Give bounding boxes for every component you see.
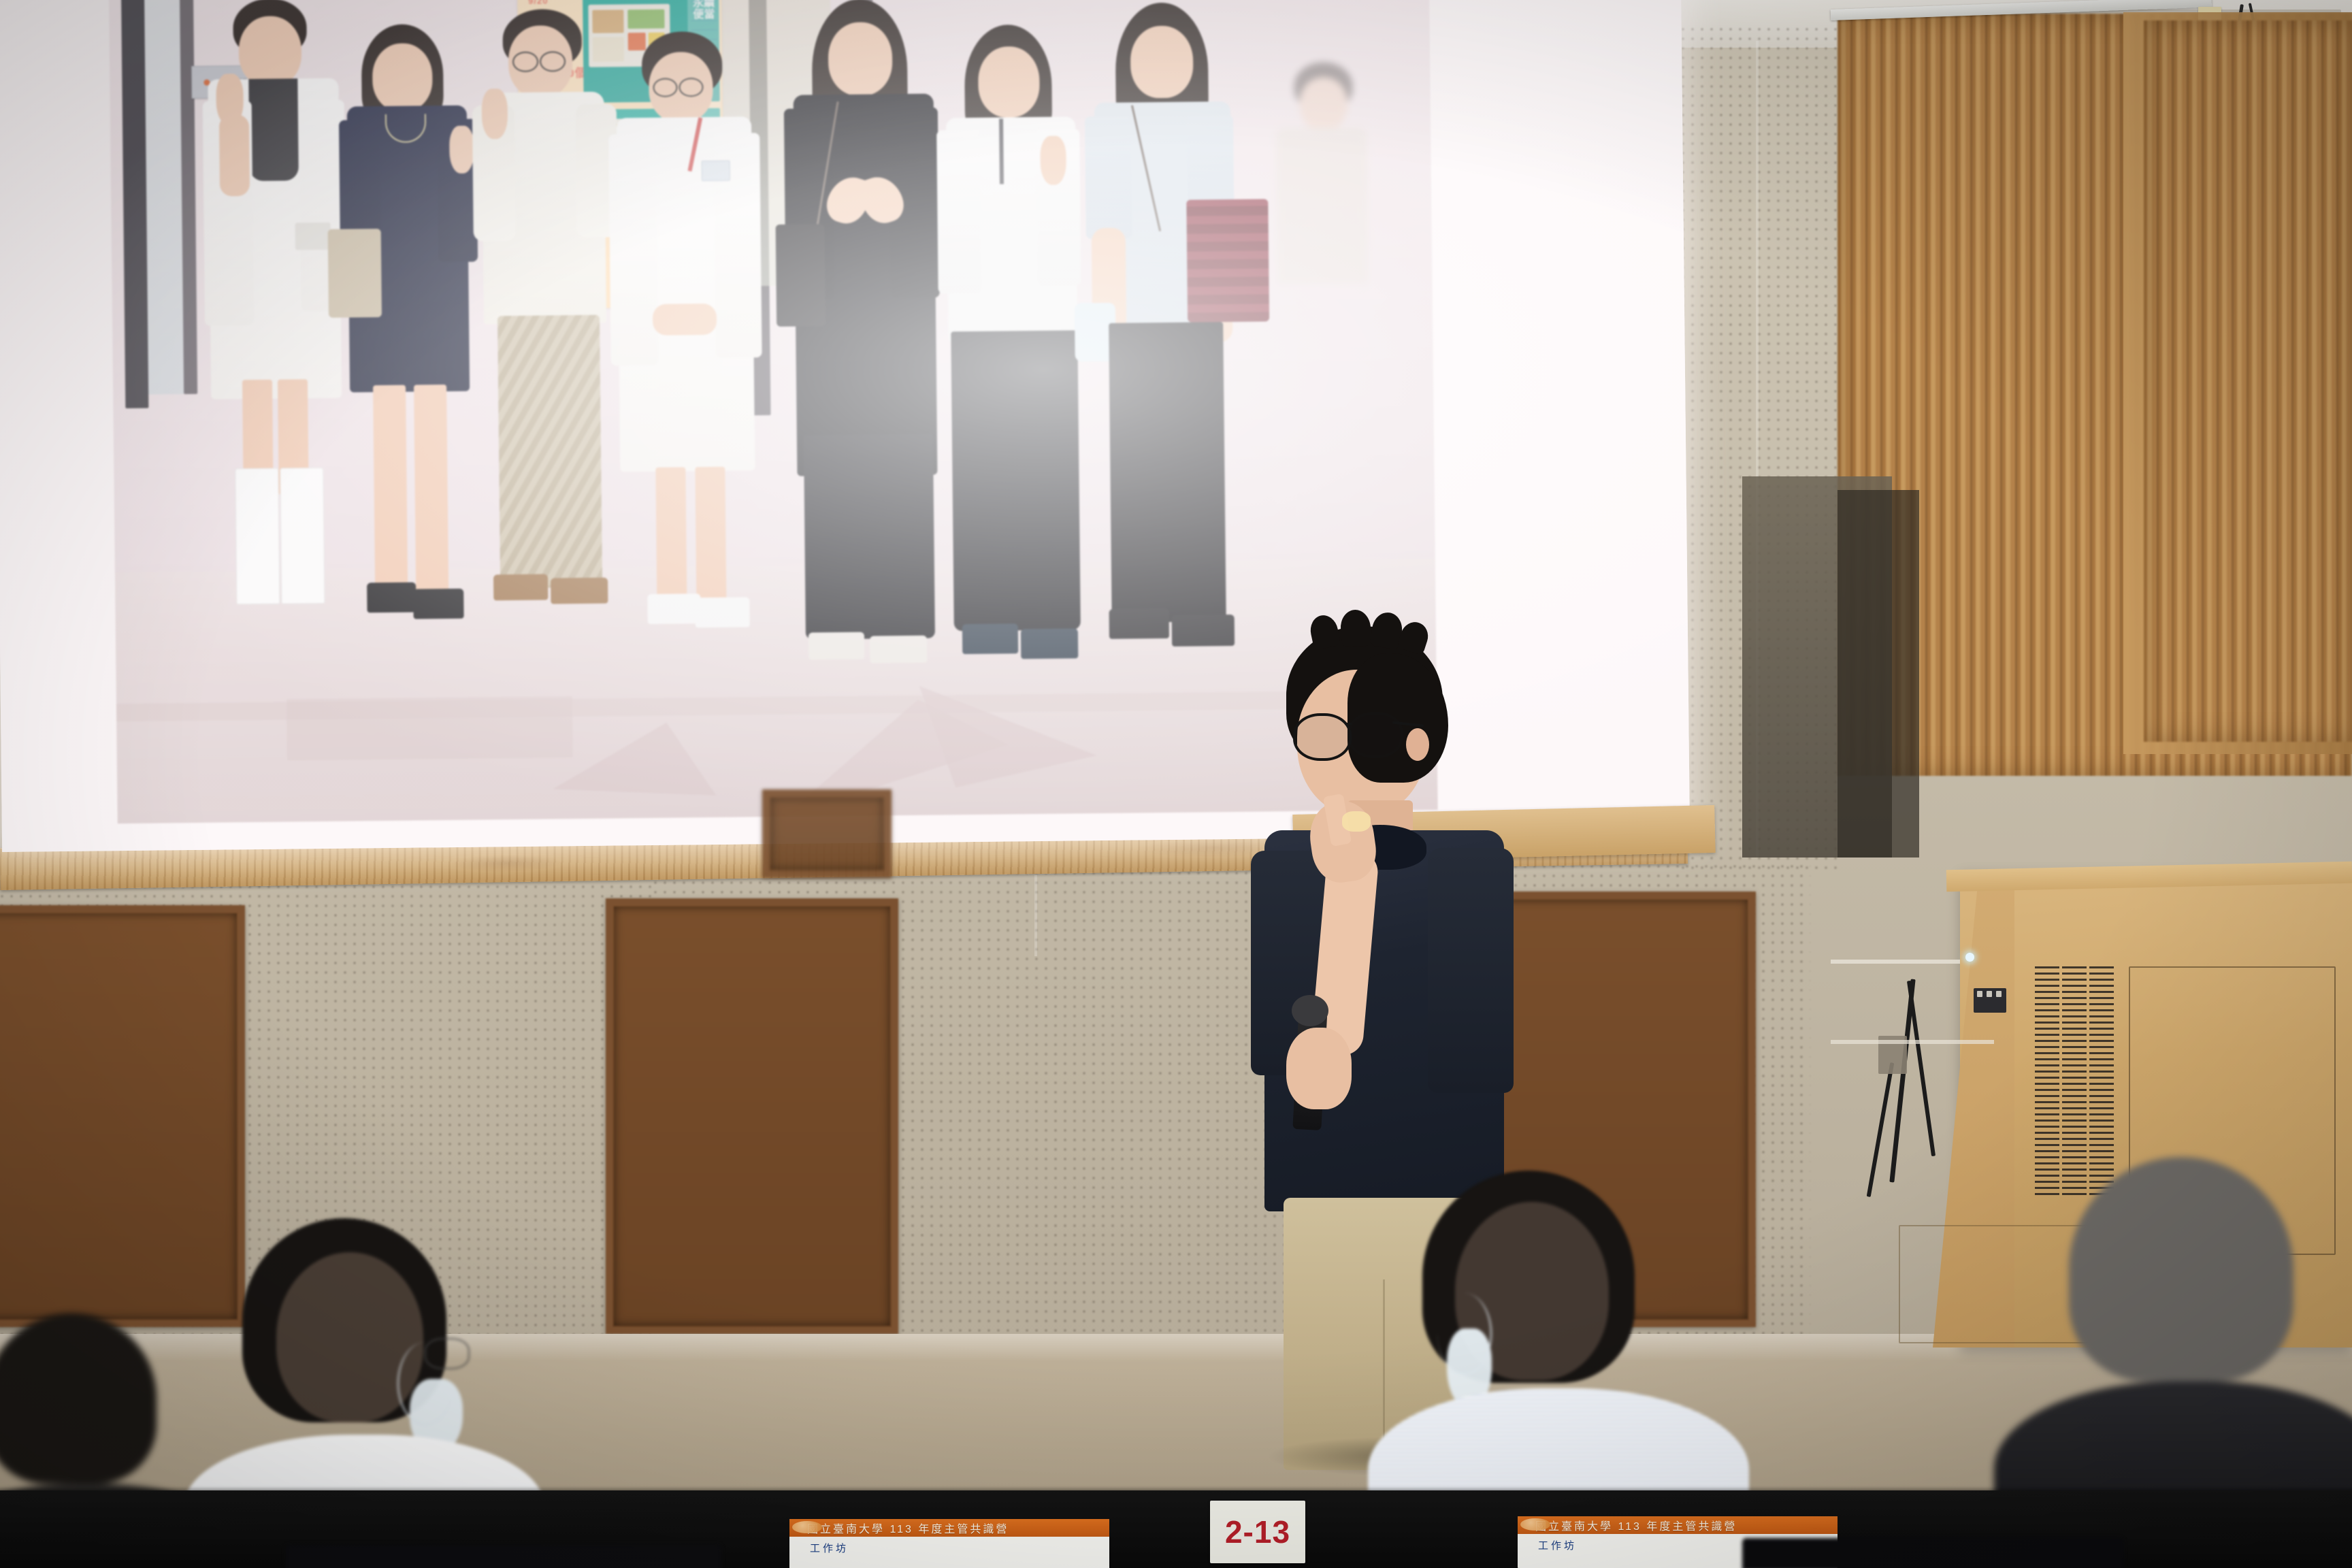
heart-hands-gesture — [828, 169, 904, 228]
photo-person-doctor-1 — [197, 0, 355, 700]
sandal — [808, 632, 864, 660]
photo-person-blue-top — [1082, 2, 1260, 725]
presenter-glasses — [1293, 713, 1352, 761]
lanyard — [999, 118, 1004, 184]
sandal — [551, 578, 608, 604]
presenter-hand-holding-mic — [1286, 1028, 1352, 1109]
lecture-hall-photo: 1B1醫師辦公室 更永續的未來 9/20 9/28 每日200個 只賣40元 — [0, 0, 2352, 1568]
sandal — [870, 636, 927, 664]
university-seal-icon — [1520, 1518, 1550, 1531]
chair-front-edge — [286, 1545, 721, 1568]
seat-number: 2-13 — [1225, 1516, 1290, 1548]
photo-person-man-glasses — [470, 8, 627, 697]
loafer — [1172, 615, 1235, 647]
banner-subtitle: 工作坊 — [789, 1537, 1109, 1555]
sneaker — [695, 597, 749, 627]
shoe — [413, 589, 463, 619]
thumbs-up-hand — [481, 88, 508, 139]
sneaker — [962, 623, 1018, 654]
lectern-shelf-line — [1831, 960, 1960, 964]
presenter-finger-highlight — [1342, 811, 1371, 832]
long-skirt — [951, 330, 1081, 631]
stage-recess-shadow — [1837, 490, 1919, 857]
wall-louver-panel-4 — [762, 789, 892, 878]
chair-banner-left: 國立臺南大學 113 年度主管共識營 工作坊 — [789, 1519, 1109, 1568]
photo-background-person — [1267, 62, 1378, 336]
coat-pocket — [295, 223, 331, 250]
university-seal-icon — [792, 1521, 822, 1533]
sandal — [493, 574, 548, 601]
thumbs-up-hand — [1040, 136, 1066, 185]
photo-person-doctor-2 — [606, 31, 770, 706]
presenter-glasses-bridge — [1345, 723, 1352, 725]
panel-seam — [1034, 875, 1037, 956]
corridor-door-glass — [144, 0, 184, 395]
long-skirt — [804, 434, 935, 640]
wall-louver-panel-1 — [0, 905, 245, 1327]
lectern-led-indicator — [1965, 953, 1974, 962]
white-boot — [235, 468, 280, 605]
photo-person-woman-navy — [333, 23, 490, 698]
wall-louver-panel-2 — [606, 898, 898, 1334]
wood-slat-wall-far-right — [2144, 20, 2352, 742]
microphone-head — [1292, 995, 1328, 1026]
plaid-trousers — [497, 315, 602, 589]
photo-person-heart-gesture — [783, 0, 953, 715]
presenter-ear — [1406, 728, 1429, 761]
presenter-sleeve-right — [1428, 848, 1514, 1093]
sneaker — [1021, 628, 1078, 659]
photo-person-white-blouse — [933, 24, 1097, 713]
banner-orange-strip: 國立臺南大學 113 年度主管共識營 — [1518, 1516, 1837, 1534]
audience-glasses — [425, 1338, 470, 1369]
shoulder-bag — [776, 224, 826, 327]
seat-number-plate: 2-13 — [1210, 1501, 1305, 1563]
lectern-power-outlet — [1974, 988, 2006, 1013]
black-trousers — [1109, 322, 1226, 623]
mask-ear-loop — [1437, 1293, 1492, 1375]
coat-badge — [702, 161, 730, 181]
presenter-glasses — [1347, 712, 1403, 758]
poster-date-start: 9/20 — [528, 0, 548, 6]
loafer — [1109, 608, 1169, 639]
white-boot — [280, 468, 325, 604]
banner-text: 國立臺南大學 113 年度主管共識營 — [1518, 1517, 1737, 1533]
banner-orange-strip: 國立臺南大學 113 年度主管共識營 — [789, 1519, 1109, 1537]
audience-hair — [0, 1313, 157, 1484]
lectern-shelf-line — [1831, 1040, 1994, 1044]
handbag — [328, 229, 382, 318]
sneaker — [647, 593, 700, 624]
slide-group-photo: 1B1醫師辦公室 更永續的未來 9/20 9/28 每日200個 只賣40元 — [109, 0, 1438, 823]
chair-front-edge — [1742, 1538, 2123, 1568]
banner-text: 國立臺南大學 113 年度主管共識營 — [789, 1520, 1009, 1536]
plaid-handbag — [1186, 199, 1269, 322]
shoe — [367, 583, 416, 613]
audience-hair — [2069, 1157, 2293, 1382]
